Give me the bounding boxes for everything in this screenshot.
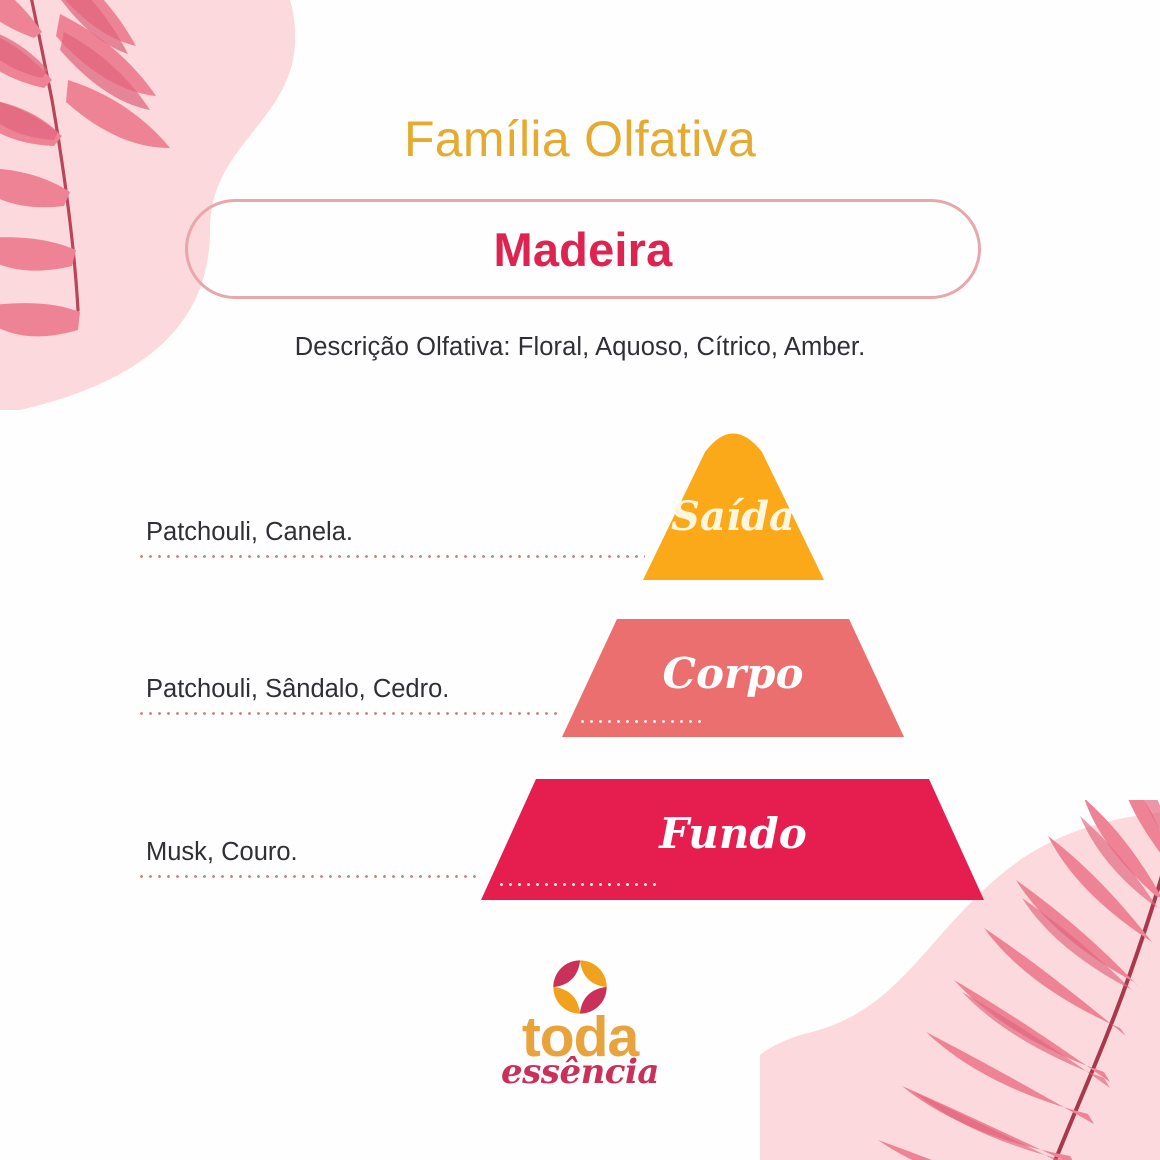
olfactive-family-infographic: Família Olfativa Madeira Descrição Olfat…: [0, 0, 1160, 1160]
leader-dots-base-inner: [497, 883, 657, 886]
pyramid-label-top: Saída: [671, 493, 795, 540]
note-row-base: Musk, Couro.: [137, 838, 482, 878]
pyramid-label-base: Fundo: [658, 809, 807, 858]
brand-wordmark-bottom: essência: [501, 1055, 659, 1089]
leader-dots-middle-inner: [578, 720, 703, 723]
note-label-middle: Patchouli, Sândalo, Cedro.: [137, 675, 557, 704]
pyramid-label-middle: Corpo: [663, 649, 804, 698]
leader-dots-top: [137, 555, 645, 558]
note-row-middle: Patchouli, Sândalo, Cedro.: [137, 675, 557, 715]
leader-dots-base: [137, 875, 482, 878]
note-row-top: Patchouli, Canela.: [137, 518, 645, 558]
note-label-base: Musk, Couro.: [137, 838, 482, 867]
note-label-top: Patchouli, Canela.: [137, 518, 645, 547]
brand-logo: toda essência: [0, 958, 1160, 1089]
leader-dots-middle: [137, 712, 557, 715]
